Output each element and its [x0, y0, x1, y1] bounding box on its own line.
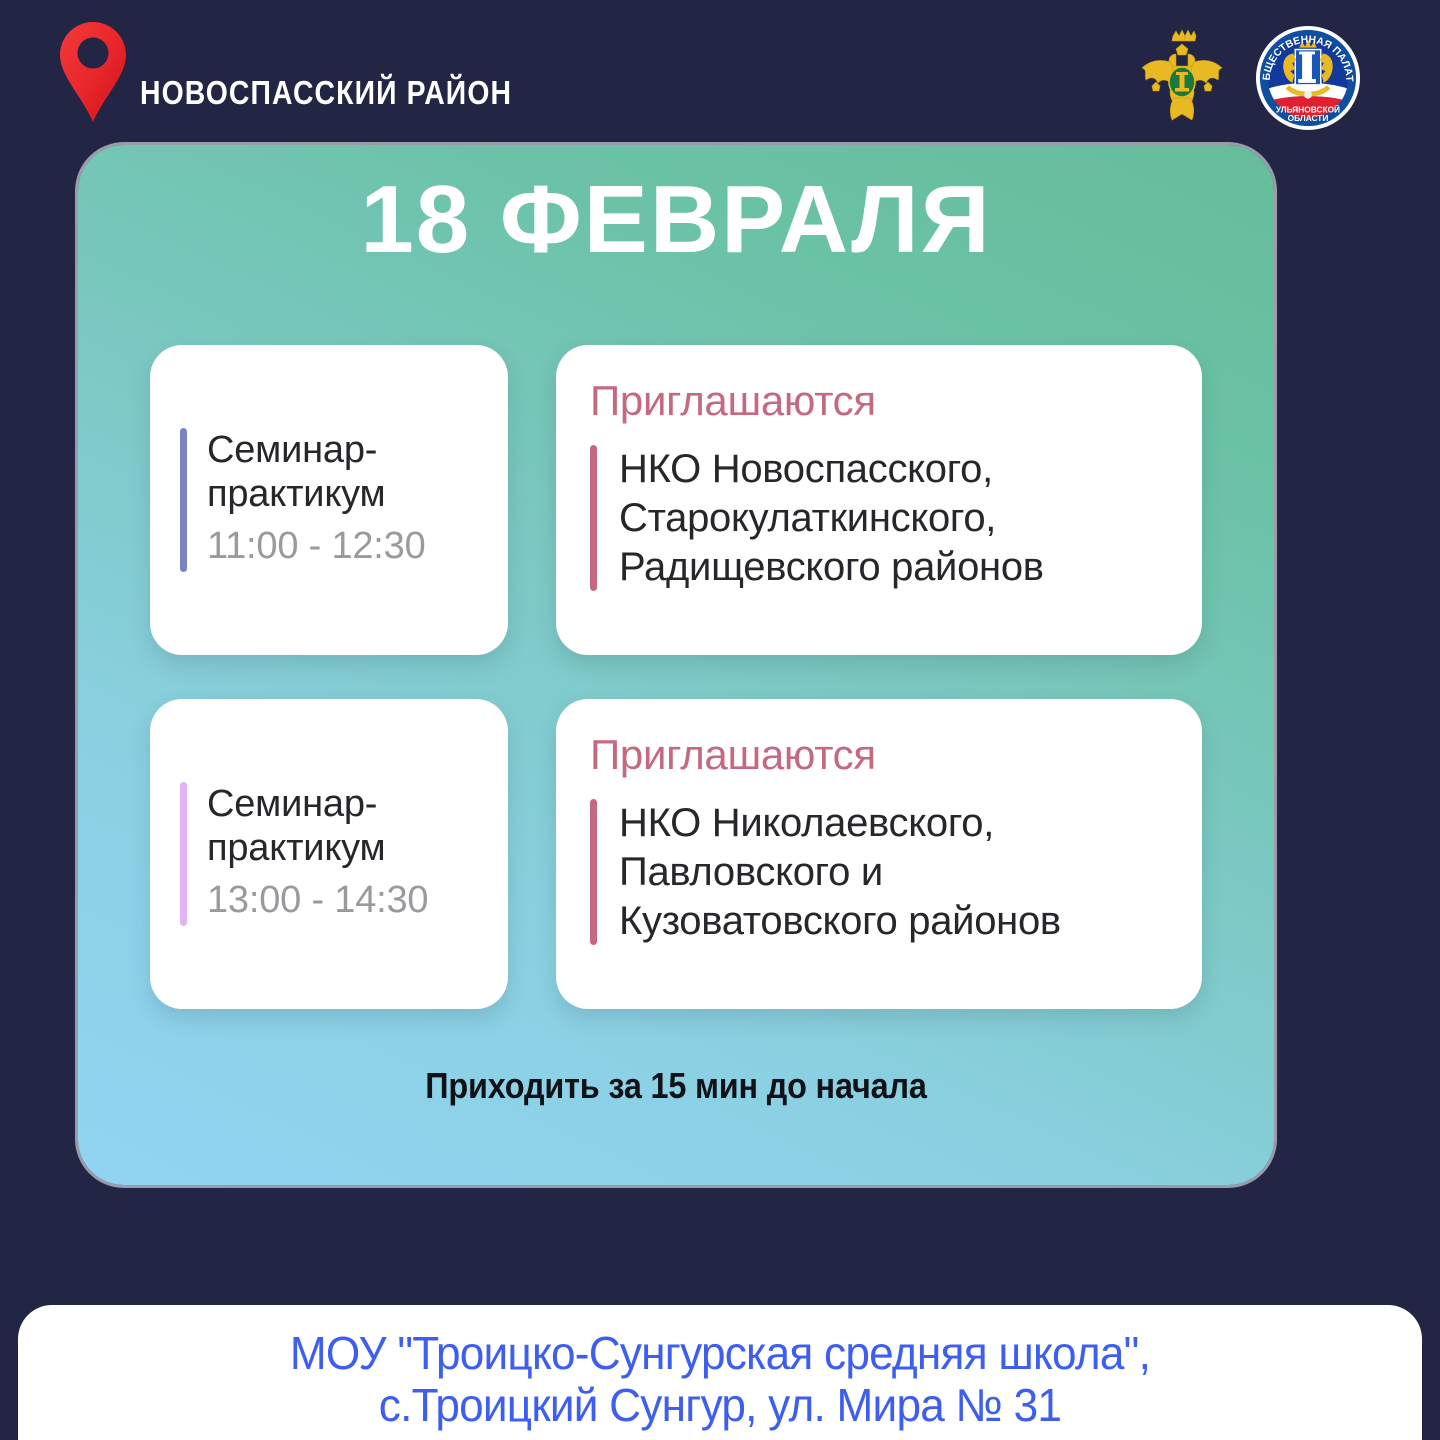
invited-districts: НКО Николаевского, Павловского и Кузоват… [619, 799, 1061, 945]
public-chamber-ulyanovsk-seal-icon: ОБЩЕСТВЕННАЯ ПАЛАТА УЛЬЯНОВСКОЙ ОБЛАСТИ [1254, 24, 1362, 137]
seminar-accent-bar [180, 782, 187, 926]
invited-accent-bar [590, 445, 597, 591]
seminar-card: Семинар- практикум 11:00 - 12:30 [150, 345, 508, 655]
seminar-time: 11:00 - 12:30 [207, 522, 508, 571]
seminar-accent-bar [180, 428, 187, 572]
schedule-list: Семинар- практикум 11:00 - 12:30 Приглаш… [150, 345, 1202, 1053]
seal-bottom-text-2: ОБЛАСТИ [1288, 113, 1329, 123]
venue-address: МОУ "Троицко-Сунгурская средняя школа", … [46, 1327, 1394, 1432]
schedule-row: Семинар- практикум 13:00 - 14:30 Приглаш… [150, 699, 1202, 1009]
seminar-time: 13:00 - 14:30 [207, 876, 508, 925]
page-header: НОВОСПАССКИЙ РАЙОН [0, 0, 1440, 142]
invited-body: НКО Новоспасского, Старокулаткинского, Р… [590, 445, 1160, 591]
seminar-accent-block: Семинар- практикум 13:00 - 14:30 [150, 782, 508, 926]
schedule-row: Семинар- практикум 11:00 - 12:30 Приглаш… [150, 345, 1202, 655]
invited-card: Приглашаются НКО Новоспасского, Старокул… [556, 345, 1202, 655]
arrival-note: Приходить за 15 мин до начала [138, 1065, 1214, 1107]
seminar-card: Семинар- практикум 13:00 - 14:30 [150, 699, 508, 1009]
invited-label: Приглашаются [590, 379, 1160, 423]
event-panel: 18 ФЕВРАЛЯ Семинар- практикум 11:00 - 12… [78, 145, 1274, 1185]
ministry-of-justice-eagle-icon [1132, 28, 1232, 133]
region-label: НОВОСПАССКИЙ РАЙОН [140, 76, 512, 109]
seminar-title: Семинар- практикум [207, 782, 508, 870]
emblem-group: ОБЩЕСТВЕННАЯ ПАЛАТА УЛЬЯНОВСКОЙ ОБЛАСТИ [1132, 24, 1362, 137]
invited-districts: НКО Новоспасского, Старокулаткинского, Р… [619, 445, 1044, 591]
seminar-title: Семинар- практикум [207, 428, 508, 516]
invited-card: Приглашаются НКО Николаевского, Павловск… [556, 699, 1202, 1009]
invited-label: Приглашаются [590, 733, 1160, 777]
venue-footer: МОУ "Троицко-Сунгурская средняя школа", … [18, 1305, 1422, 1440]
invited-body: НКО Николаевского, Павловского и Кузоват… [590, 799, 1160, 945]
page-title: 18 ФЕВРАЛЯ [78, 167, 1274, 273]
seminar-accent-block: Семинар- практикум 11:00 - 12:30 [150, 428, 508, 572]
invited-accent-bar [590, 799, 597, 945]
map-pin-icon [58, 20, 128, 124]
